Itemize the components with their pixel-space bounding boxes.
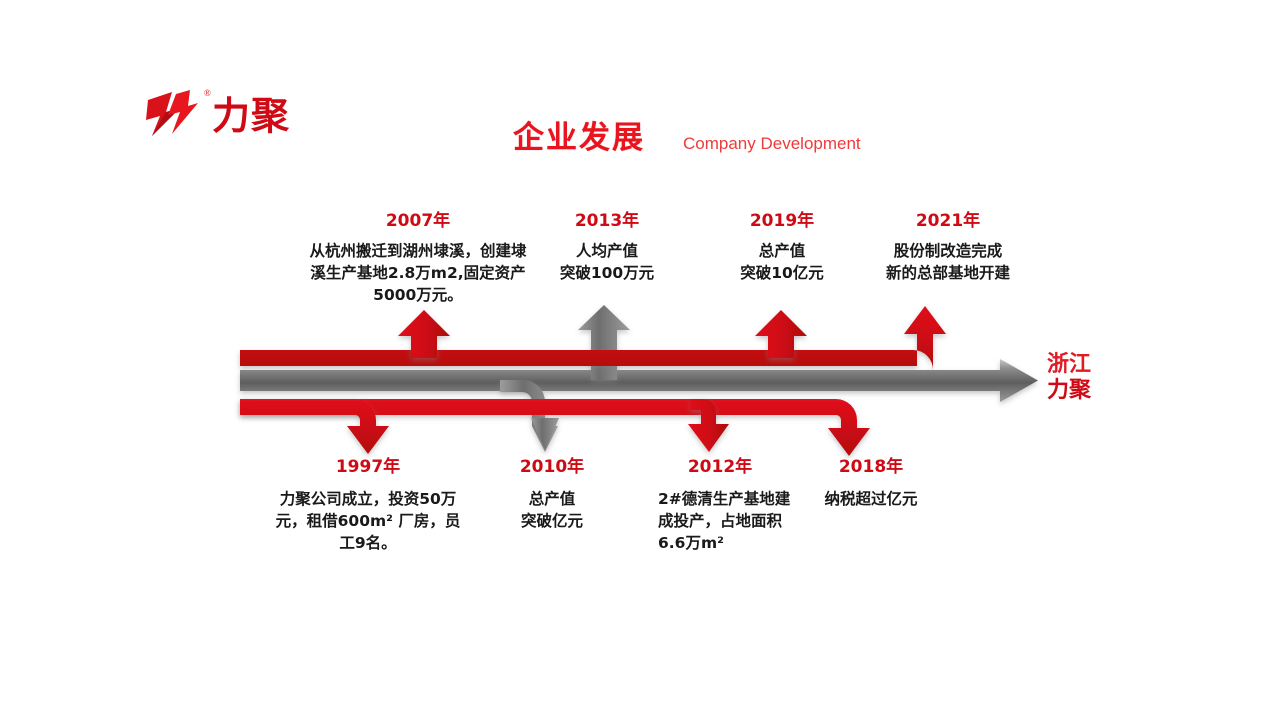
- entry-desc-text: 总产值 突破10亿元: [706, 240, 858, 284]
- entry-desc-text: 力聚公司成立，投资50万元，租借600m² 厂房，员工9名。: [270, 488, 466, 554]
- red-branch-2007: [398, 310, 450, 358]
- timeline-entry-2018[interactable]: 2018年 纳税超过亿元: [796, 452, 946, 510]
- entry-desc-text: 总产值 突破亿元: [482, 488, 622, 532]
- red-branch-2019: [755, 310, 807, 358]
- gray-branch-2013: [578, 305, 630, 380]
- red-branch-2012: [688, 399, 729, 452]
- lightning-bolt-logo-icon: [146, 90, 202, 140]
- entry-year-label: 2012年: [640, 452, 800, 477]
- entry-desc-text: 从杭州搬迁到湖州埭溪，创建埭溪生产基地2.8万m2,固定资产5000万元。: [303, 240, 533, 306]
- logo-wordmark: 力聚: [212, 94, 290, 138]
- registered-mark: ®: [204, 88, 211, 98]
- gray-main-band: [240, 359, 1038, 402]
- timeline-entry-2010[interactable]: 2010年 总产值 突破亿元: [482, 452, 622, 532]
- entry-desc-text: 2#德清生产基地建成投产，占地面积6.6万m²: [640, 488, 800, 554]
- entry-year-label: 2013年: [531, 206, 683, 231]
- entry-desc-text: 人均产值 突破100万元: [531, 240, 683, 284]
- end-label-line-1: 浙江: [1047, 352, 1117, 378]
- red-branch-1997: [240, 399, 389, 454]
- page-title-cn: 企业发展: [513, 112, 645, 157]
- entry-year-label: 2021年: [866, 206, 1030, 231]
- company-logo: ® 力聚: [146, 88, 406, 150]
- entry-year-label: 2010年: [482, 452, 622, 477]
- entry-year-label: 2018年: [796, 452, 946, 477]
- timeline-entry-2021[interactable]: 2021年 股份制改造完成 新的总部基地开建: [866, 206, 1030, 284]
- page-title-en: Company Development: [683, 134, 861, 154]
- timeline-entry-2012[interactable]: 2012年 2#德清生产基地建成投产，占地面积6.6万m²: [640, 452, 800, 554]
- red-top-rail: [240, 306, 946, 372]
- red-bottom-rail: [240, 399, 870, 456]
- entry-desc-text: 股份制改造完成 新的总部基地开建: [866, 240, 1030, 284]
- entry-desc-text: 纳税超过亿元: [796, 488, 946, 510]
- timeline-end-label: 浙江 力聚: [1047, 352, 1117, 404]
- timeline-entry-1997[interactable]: 1997年 力聚公司成立，投资50万元，租借600m² 厂房，员工9名。: [270, 452, 466, 554]
- timeline-entry-2019[interactable]: 2019年 总产值 突破10亿元: [706, 206, 858, 284]
- gray-branch-2010: [500, 380, 559, 452]
- timeline-entry-2007[interactable]: 2007年 从杭州搬迁到湖州埭溪，创建埭溪生产基地2.8万m2,固定资产5000…: [303, 206, 533, 306]
- end-label-line-2: 力聚: [1047, 378, 1117, 404]
- entry-year-label: 1997年: [270, 452, 466, 477]
- timeline-entry-2013[interactable]: 2013年 人均产值 突破100万元: [531, 206, 683, 284]
- entry-year-label: 2007年: [303, 206, 533, 231]
- entry-year-label: 2019年: [706, 206, 858, 231]
